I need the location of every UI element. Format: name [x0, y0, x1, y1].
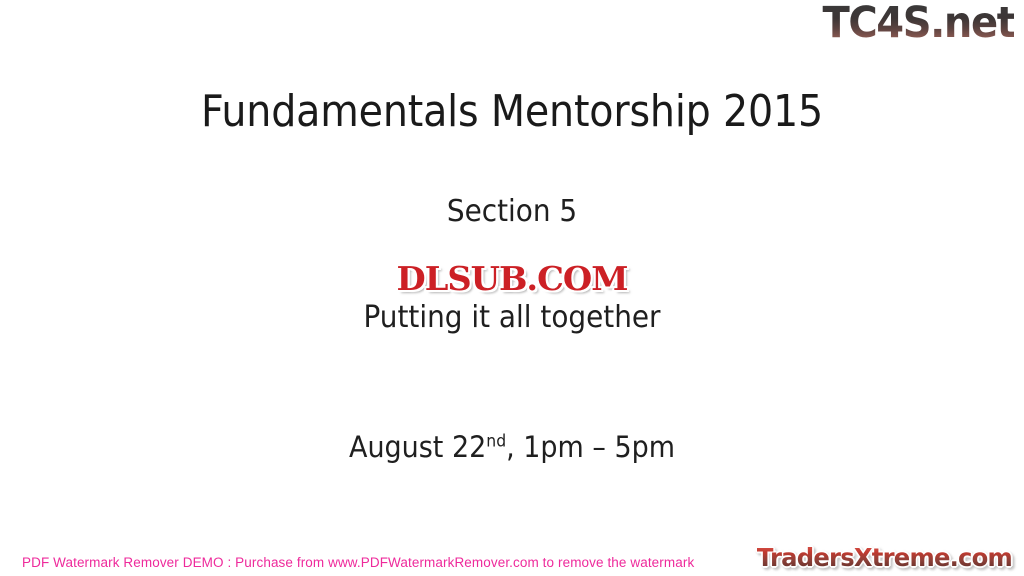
slide-title: Fundamentals Mentorship 2015 — [51, 86, 973, 137]
slide-datetime: August 22nd, 1pm – 5pm — [36, 430, 988, 464]
datetime-time-range: , 1pm – 5pm — [506, 430, 675, 464]
dlsub-watermark-overlay: DLSUB.COM — [397, 262, 628, 295]
datetime-ordinal-suffix: nd — [486, 430, 506, 450]
slide-tagline: Putting it all together — [36, 300, 988, 335]
datetime-month-day: August 22 — [349, 430, 486, 464]
tradersxtreme-brand-logo: TradersXtreme.com — [757, 545, 1012, 570]
pdf-watermark-demo-notice: PDF Watermark Remover DEMO : Purchase fr… — [22, 555, 694, 570]
tc4s-brand-logo: TC4S.net — [822, 2, 1014, 45]
presentation-slide: TC4S.net Fundamentals Mentorship 2015 Se… — [0, 0, 1024, 576]
section-label: Section 5 — [36, 194, 988, 229]
